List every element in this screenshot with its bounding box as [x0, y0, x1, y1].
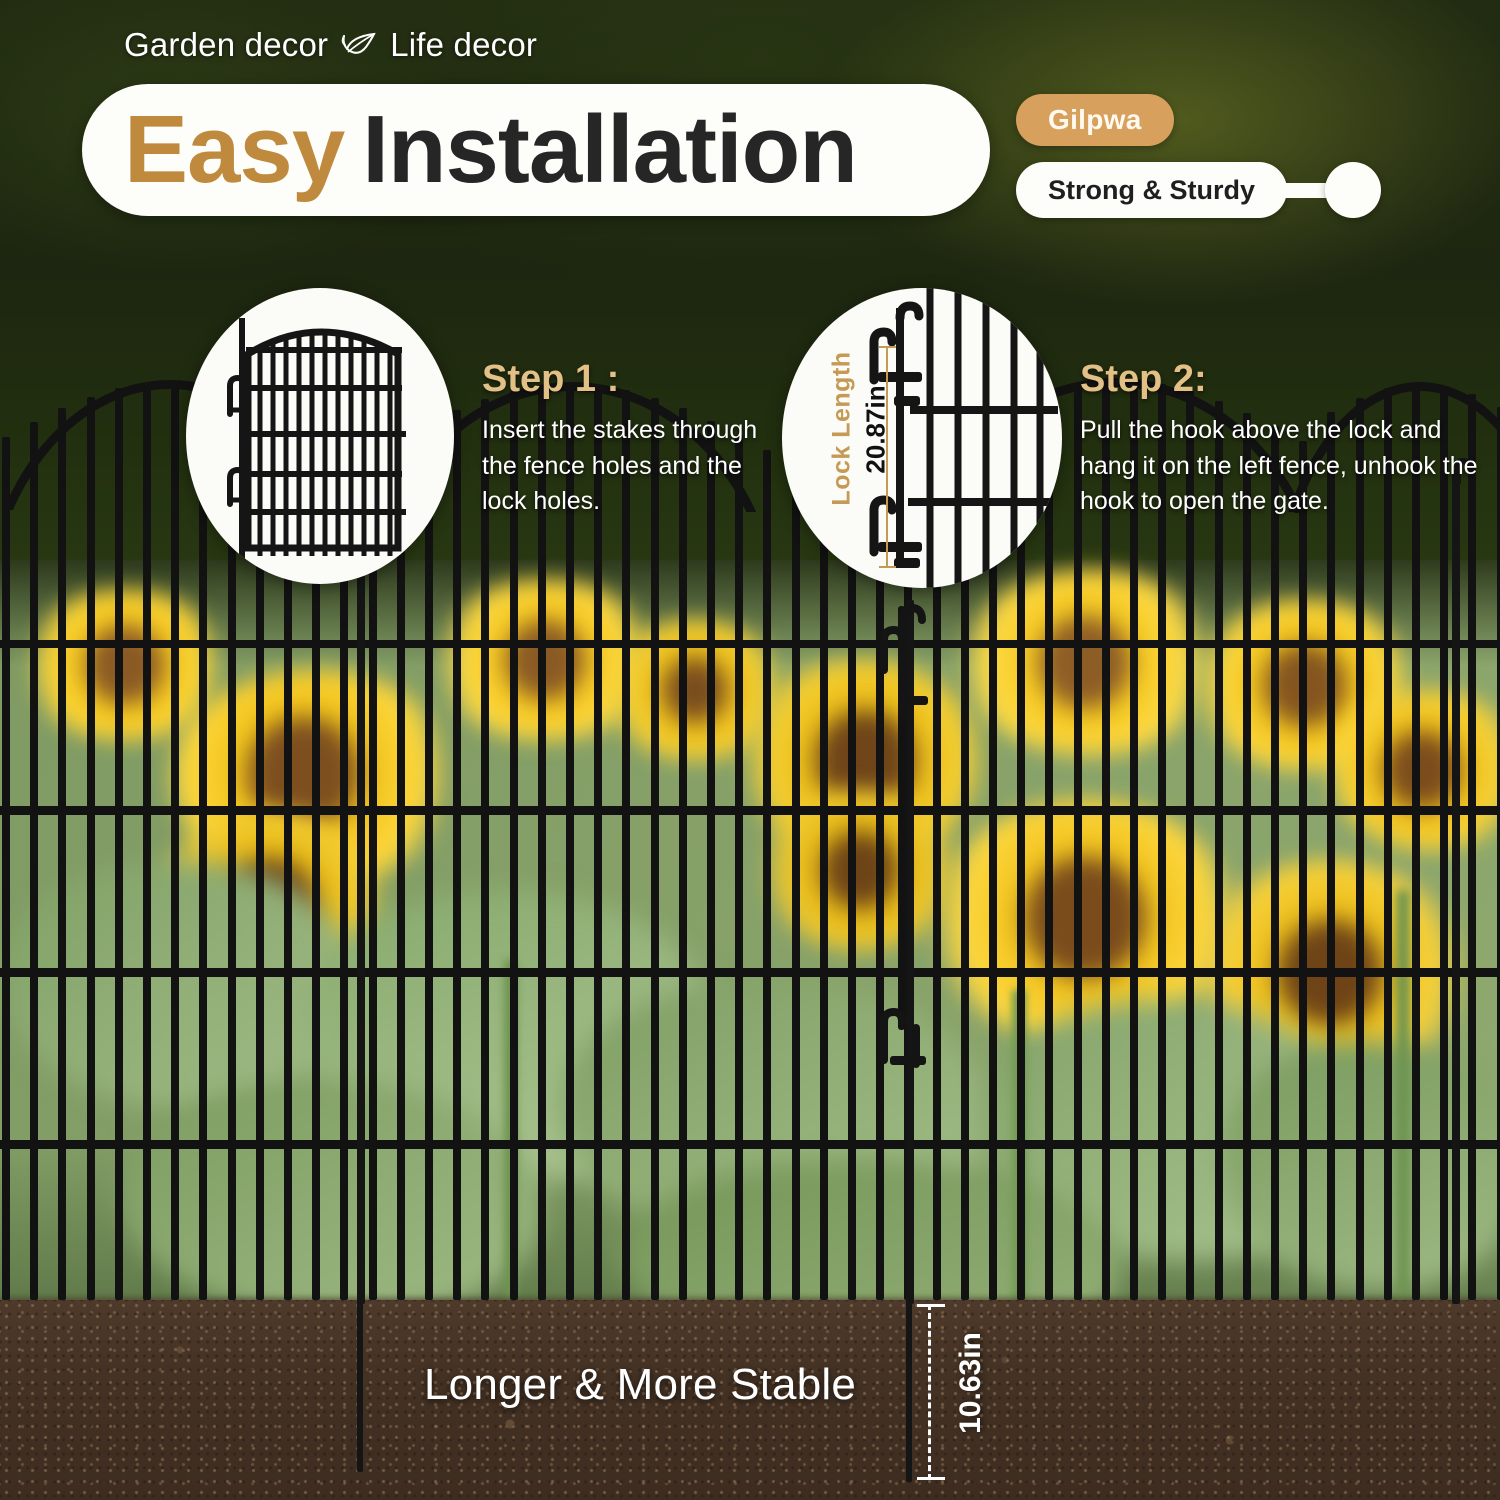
fence-bar: [397, 437, 405, 1300]
fence-bar: [1468, 394, 1476, 1300]
fence-bar: [1243, 413, 1251, 1300]
fence-bar: [679, 408, 687, 1300]
lock-length-label: Lock Length: [828, 339, 857, 519]
fence-bar: [763, 450, 771, 1300]
pill-connector-bar: [1283, 183, 1331, 198]
tagline-right-text: Life decor: [390, 26, 537, 64]
leaf-icon: [340, 30, 378, 60]
fence-bar: [566, 384, 574, 1300]
fence-bar: [510, 391, 518, 1300]
fence-bar: [1412, 384, 1420, 1300]
step-2-body: Pull the hook above the lock and hang it…: [1080, 413, 1480, 520]
fence-bar: [2, 437, 10, 1300]
headline-accent-word: Easy: [124, 95, 344, 205]
fence-bar: [876, 470, 884, 1300]
headline-main-word: Installation: [362, 95, 857, 205]
product-infographic-canvas: Garden decor Life decor Easy Installatio…: [0, 0, 1500, 1500]
fence-bar: [115, 388, 123, 1300]
brand-badge: Gilpwa: [1016, 94, 1174, 146]
fence-bar: [735, 435, 743, 1300]
fence-bar: [707, 421, 715, 1300]
step-1-heading: Step 1 :: [482, 358, 758, 401]
step-2-text-block: Step 2: Pull the hook above the lock and…: [1080, 358, 1480, 520]
fence-bar: [594, 385, 602, 1300]
fence-bar: [87, 397, 95, 1300]
arched-fence-panel-with-stake-icon: [186, 288, 454, 584]
fence-bar: [651, 398, 659, 1300]
buried-depth-annotation: 10.63in: [928, 1304, 998, 1480]
fence-bar: [481, 399, 489, 1300]
fence-bar: [30, 422, 38, 1300]
fence-bar: [848, 470, 856, 1300]
fence-bar: [58, 408, 66, 1300]
fence-bar: [1327, 412, 1335, 1300]
fence-bar: [143, 383, 151, 1300]
pill-end-dot: [1325, 162, 1381, 218]
upper-hook-icon: [872, 600, 932, 720]
step-2-heading: Step 2:: [1080, 358, 1480, 401]
step-1-text-block: Step 1 : Insert the stakes through the f…: [482, 358, 758, 520]
headline-banner: Easy Installation: [82, 84, 990, 216]
fence-bar: [1215, 401, 1223, 1300]
fence-bar: [369, 452, 377, 1300]
fence-bar: [1384, 388, 1392, 1300]
feature-pill-group: Strong & Sturdy: [1016, 162, 1381, 218]
feature-pill-label: Strong & Sturdy: [1016, 162, 1287, 218]
tagline-left-text: Garden decor: [124, 26, 328, 64]
fence-bar: [1356, 398, 1364, 1300]
lower-hook-icon: [872, 960, 932, 1070]
fence-bar: [1186, 391, 1194, 1300]
fence-bar: [538, 386, 546, 1300]
lock-dimension-line: [886, 346, 888, 568]
fence-bar: [171, 382, 179, 1300]
fence-bar: [1299, 441, 1307, 1300]
stable-caption: Longer & More Stable: [424, 1360, 856, 1410]
garden-fence-graphic: [0, 0, 1500, 1500]
step-1-body: Insert the stakes through the fence hole…: [482, 413, 758, 520]
step-1-illustration-circle: [186, 288, 454, 584]
fence-bar: [453, 410, 461, 1300]
fence-bar: [792, 470, 800, 1300]
fence-bar: [820, 470, 828, 1300]
fence-bar: [622, 390, 630, 1300]
fence-bar: [199, 385, 207, 1300]
fence-bar: [1158, 384, 1166, 1300]
lock-length-annotation: Lock Length 20.87in: [812, 330, 876, 570]
fence-bar: [1045, 389, 1053, 1300]
buried-depth-value: 10.63in: [954, 1298, 988, 1468]
brand-tagline: Garden decor Life decor: [124, 26, 537, 64]
fence-bar: [425, 422, 433, 1300]
fence-bar: [1074, 383, 1082, 1300]
fence-bar: [1271, 426, 1279, 1300]
fence-bar: [1440, 386, 1448, 1300]
